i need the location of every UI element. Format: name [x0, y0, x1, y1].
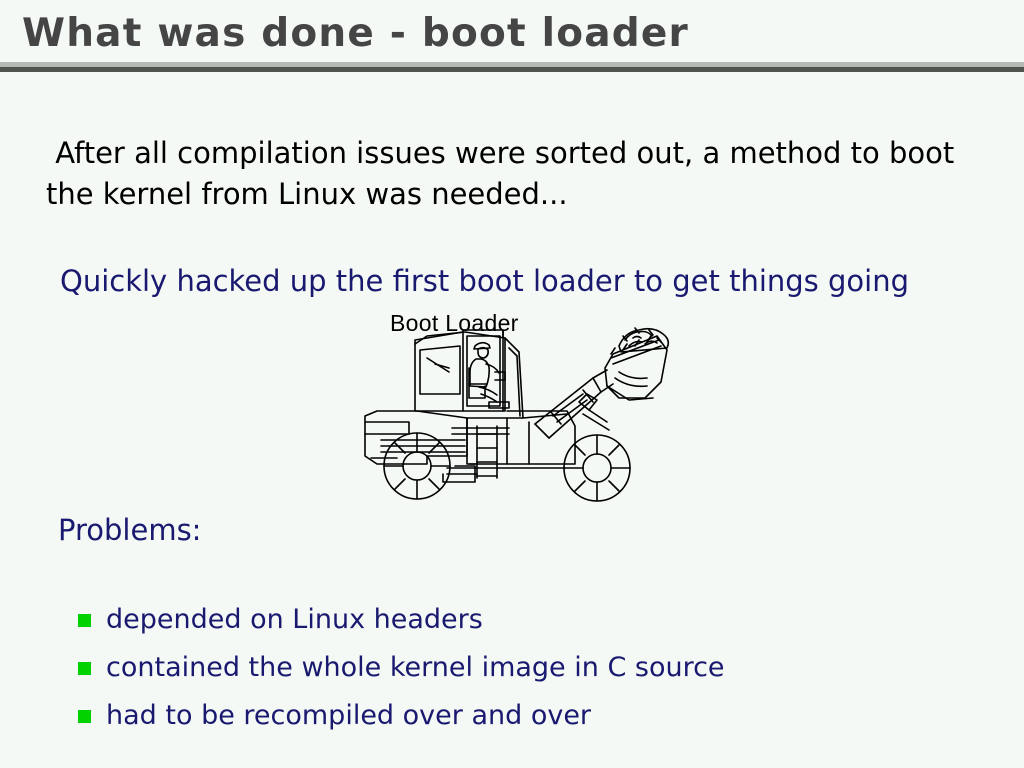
list-item-label: contained the whole kernel image in C so… — [106, 652, 725, 683]
page-title: What was done - boot loader — [22, 11, 689, 56]
boot-loader-caption: Boot Loader — [390, 310, 519, 337]
highlight-line: Quickly hacked up the first boot loader … — [60, 262, 909, 300]
problems-list: depended on Linux headers contained the … — [78, 598, 958, 742]
square-bullet-icon — [78, 614, 91, 627]
slide: What was done - boot loader After all co… — [0, 0, 1024, 768]
list-item: had to be recompiled over and over — [78, 694, 958, 737]
boot-loader-illustration: Boot Loader — [357, 306, 687, 506]
list-item-label: depended on Linux headers — [106, 604, 483, 635]
list-item: contained the whole kernel image in C so… — [78, 646, 958, 689]
list-item: depended on Linux headers — [78, 598, 958, 641]
title-divider — [0, 62, 1024, 72]
square-bullet-icon — [78, 662, 91, 675]
list-item-label: had to be recompiled over and over — [106, 700, 591, 731]
problems-label: Problems: — [58, 513, 201, 547]
slide-title-block: What was done - boot loader — [0, 0, 1024, 74]
title-divider-shadow — [0, 67, 1024, 72]
intro-paragraph: After all compilation issues were sorted… — [46, 133, 986, 215]
square-bullet-icon — [78, 710, 91, 723]
